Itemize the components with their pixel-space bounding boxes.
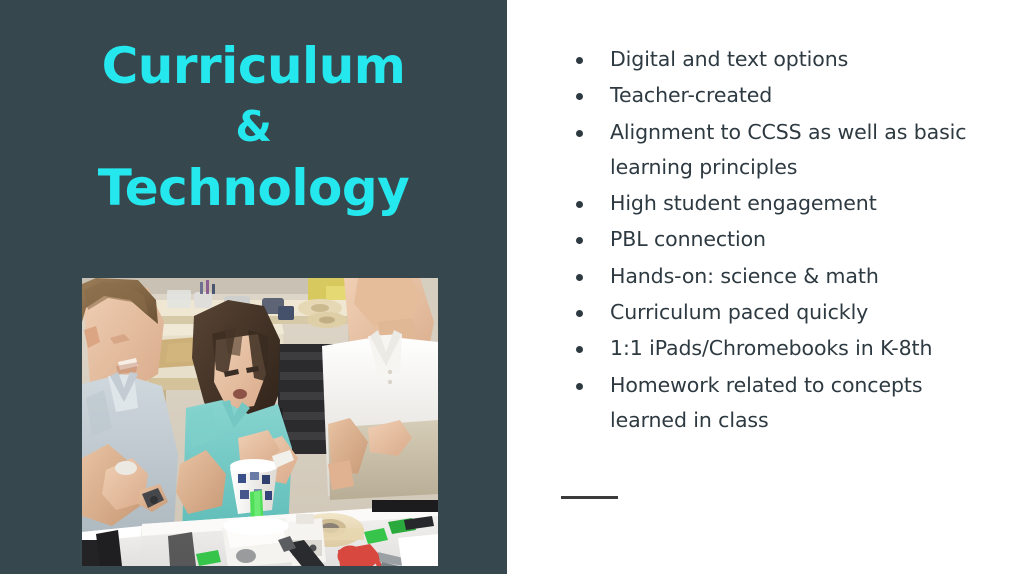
left-title-panel: Curriculum & Technology xyxy=(0,0,507,574)
list-item: Hands-on: science & math xyxy=(560,259,1000,294)
classroom-hands-on-project-photo xyxy=(82,278,438,566)
list-item: Teacher-created xyxy=(560,78,1000,113)
list-item: Alignment to CCSS as well as basic learn… xyxy=(560,115,1000,186)
curriculum-bullet-list: Digital and text options Teacher-created… xyxy=(560,42,1000,439)
bullet-dot-icon xyxy=(576,383,583,390)
list-item-label: Digital and text options xyxy=(610,47,848,71)
presentation-slide: Curriculum & Technology xyxy=(0,0,1020,574)
list-item-label: Teacher-created xyxy=(610,83,772,107)
bullet-dot-icon xyxy=(576,201,583,208)
bullet-dot-icon xyxy=(576,346,583,353)
right-content-panel: Digital and text options Teacher-created… xyxy=(507,0,1020,574)
bullet-dot-icon xyxy=(576,237,583,244)
bullet-dot-icon xyxy=(576,310,583,317)
bullet-dot-icon xyxy=(576,93,583,100)
list-item: High student engagement xyxy=(560,186,1000,221)
list-item-label: 1:1 iPads/Chromebooks in K-8th xyxy=(610,336,932,360)
bullet-dot-icon xyxy=(576,130,583,137)
section-divider xyxy=(561,496,618,499)
list-item-label: Hands-on: science & math xyxy=(610,264,879,288)
list-item: Curriculum paced quickly xyxy=(560,295,1000,330)
title-line-2-ampersand: & xyxy=(0,100,507,154)
list-item: Digital and text options xyxy=(560,42,1000,77)
list-item-label: Curriculum paced quickly xyxy=(610,300,868,324)
list-item-label: Alignment to CCSS as well as basic learn… xyxy=(610,120,966,179)
title-line-3: Technology xyxy=(0,154,507,222)
bullet-dot-icon xyxy=(576,274,583,281)
list-item: Homework related to concepts learned in … xyxy=(560,368,1000,439)
slide-title: Curriculum & Technology xyxy=(0,32,507,222)
list-item: 1:1 iPads/Chromebooks in K-8th xyxy=(560,331,1000,366)
title-line-1: Curriculum xyxy=(0,32,507,100)
bullet-dot-icon xyxy=(576,57,583,64)
list-item-label: PBL connection xyxy=(610,227,766,251)
list-item-label: High student engagement xyxy=(610,191,877,215)
list-item: PBL connection xyxy=(560,222,1000,257)
list-item-label: Homework related to concepts learned in … xyxy=(610,373,922,432)
